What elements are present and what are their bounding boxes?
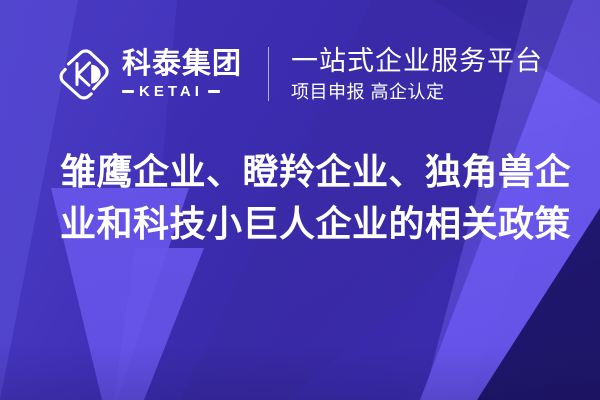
ketai-diamond-kd-icon: [58, 48, 110, 100]
brand-wordmark: 科泰集团 KETAI: [122, 50, 242, 99]
page-title-line-1: 雏鹰企业、瞪羚企业、独角兽企: [60, 146, 570, 198]
brand-name-cn: 科泰集团: [122, 50, 242, 79]
tagline-sub: 项目申报 高企认定: [291, 82, 543, 103]
page-title-line-2: 业和科技小巨人企业的相关政策: [60, 198, 570, 250]
dash-icon-right: [208, 90, 220, 93]
page-title: 雏鹰企业、瞪羚企业、独角兽企 业和科技小巨人企业的相关政策: [60, 146, 570, 250]
tagline-block: 一站式企业服务平台 项目申报 高企认定: [291, 46, 543, 103]
brand-name-en-row: KETAI: [122, 84, 242, 99]
tagline-main: 一站式企业服务平台: [291, 46, 543, 77]
vertical-divider-icon: [268, 47, 269, 101]
banner-header: 科泰集团 KETAI 一站式企业服务平台 项目申报 高企认定: [0, 38, 600, 110]
dash-icon-left: [122, 90, 134, 93]
promo-banner: 科泰集团 KETAI 一站式企业服务平台 项目申报 高企认定 雏鹰企业、瞪羚企业…: [0, 0, 600, 400]
brand-name-en: KETAI: [139, 84, 203, 99]
brand-logo[interactable]: 科泰集团 KETAI: [58, 48, 242, 100]
